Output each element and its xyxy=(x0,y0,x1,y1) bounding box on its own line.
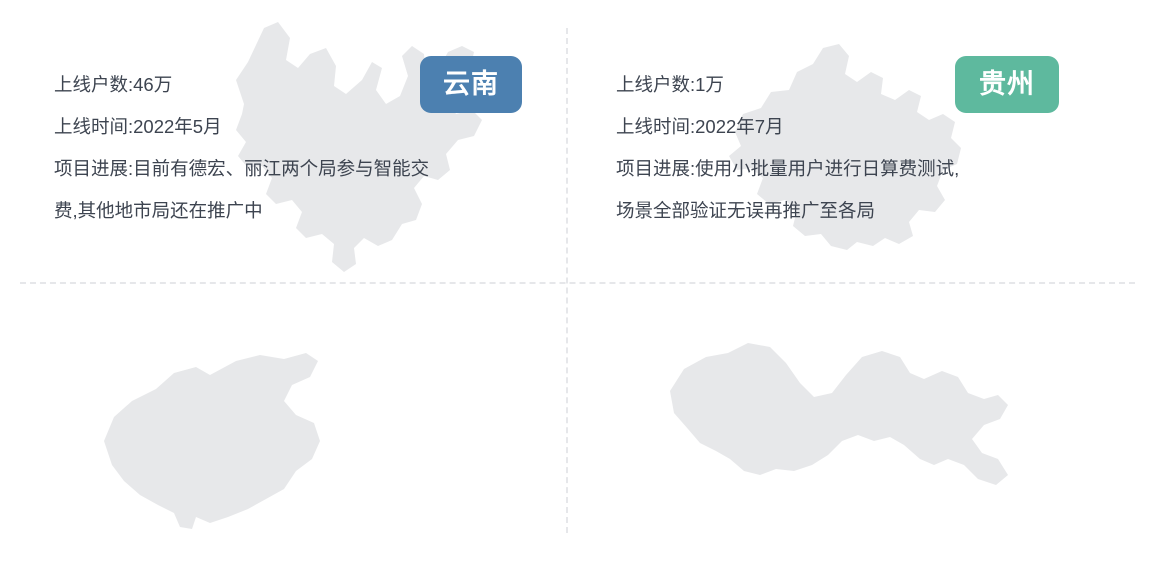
card-hainan[interactable]: 海南 上线时间:待定 项目进展:目前海南仍处于双轨阶段,使用全省 数据进行测试比… xyxy=(0,283,577,566)
card-yunnan[interactable]: 云南 上线户数:46万 上线时间:2022年5月 项目进展:目前有德宏、丽江两个… xyxy=(0,0,577,283)
card-guizhou-line-1: 上线户数:1万 xyxy=(616,64,959,106)
card-guizhou-line-3: 项目进展:使用小批量用户进行日算费测试, xyxy=(616,148,959,190)
card-yunnan-line-1: 上线户数:46万 xyxy=(54,64,429,106)
badge-yunnan[interactable]: 云南 xyxy=(420,56,522,113)
card-yunnan-text: 上线户数:46万 上线时间:2022年5月 项目进展:目前有德宏、丽江两个局参与… xyxy=(54,64,429,232)
card-yunnan-line-3: 项目进展:目前有德宏、丽江两个局参与智能交 xyxy=(54,148,429,190)
card-yunnan-line-4: 费,其他地市局还在推广中 xyxy=(54,190,429,232)
badge-guizhou[interactable]: 贵州 xyxy=(955,56,1059,113)
card-guizhou-line-4: 场景全部验证无误再推广至各局 xyxy=(616,190,959,232)
shenzhen-city-map-icon xyxy=(652,313,1027,528)
infographic-canvas: 云南 上线户数:46万 上线时间:2022年5月 项目进展:目前有德宏、丽江两个… xyxy=(0,0,1154,566)
card-shenzhen[interactable]: 深圳 上线户数:20万 上线时间:2022年4月 项目进展:后续逐步将全深圳费控… xyxy=(577,283,1154,566)
card-guizhou[interactable]: 贵州 上线户数:1万 上线时间:2022年7月 项目进展:使用小批量用户进行日算… xyxy=(577,0,1154,283)
card-guizhou-line-2: 上线时间:2022年7月 xyxy=(616,106,959,148)
card-yunnan-line-2: 上线时间:2022年5月 xyxy=(54,106,429,148)
hainan-province-map-icon xyxy=(70,331,360,546)
card-guizhou-text: 上线户数:1万 上线时间:2022年7月 项目进展:使用小批量用户进行日算费测试… xyxy=(616,64,959,232)
